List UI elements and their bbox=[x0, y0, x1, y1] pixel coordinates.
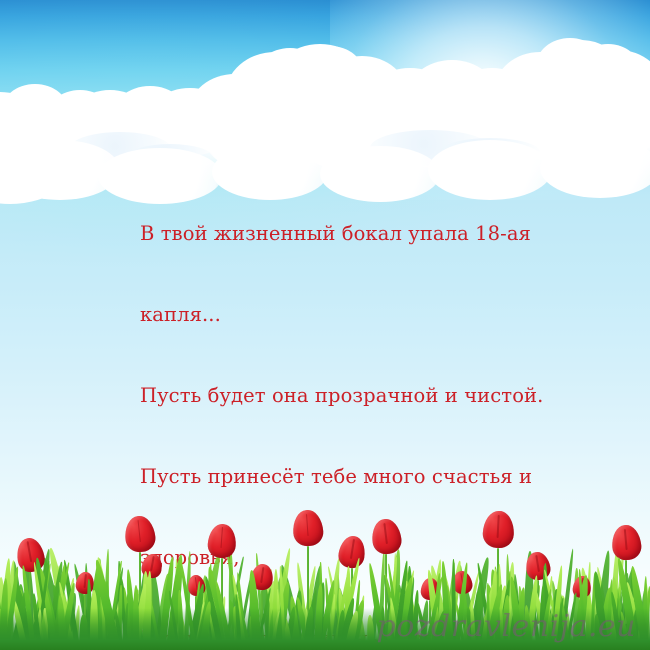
tulip-petal-split bbox=[306, 514, 309, 536]
message-line-3: Пусть будет она прозрачной и чистой. bbox=[140, 382, 560, 409]
tulip-petal-split bbox=[137, 520, 141, 542]
tulip-petal-split bbox=[535, 555, 539, 572]
tulip-bloom bbox=[610, 524, 642, 561]
message-line-2: капля... bbox=[140, 301, 560, 328]
message-line-1: В твой жизненный бокал упала 18-ая bbox=[140, 220, 560, 247]
cloud-puff bbox=[576, 44, 640, 96]
tulip-petal-split bbox=[496, 515, 499, 538]
cloud-puff bbox=[296, 46, 364, 102]
site-watermark: pozdravlenija.eu bbox=[376, 609, 636, 644]
tulip-bloom bbox=[369, 517, 402, 555]
tulip-petal-split bbox=[27, 542, 32, 563]
tulip-bloom bbox=[482, 510, 515, 549]
message-line-4: Пусть принесёт тебе много счастья и bbox=[140, 463, 560, 490]
greeting-card: В твой жизненный бокал упала 18-ая капля… bbox=[0, 0, 650, 650]
tulip-bloom bbox=[337, 534, 368, 570]
tulip-petal-split bbox=[260, 567, 264, 583]
tulip-petal-split bbox=[383, 523, 387, 545]
tulip-petal-split bbox=[150, 556, 154, 571]
tulip-petal-split bbox=[624, 529, 627, 551]
tulip-bloom bbox=[207, 523, 237, 559]
tulip-bloom bbox=[292, 509, 324, 547]
tulip-petal-split bbox=[220, 527, 223, 548]
tulip-petal-split bbox=[350, 539, 355, 559]
tulip-petal-split bbox=[84, 574, 87, 588]
tulip-bloom bbox=[524, 550, 552, 581]
tulip-bloom bbox=[123, 515, 157, 554]
